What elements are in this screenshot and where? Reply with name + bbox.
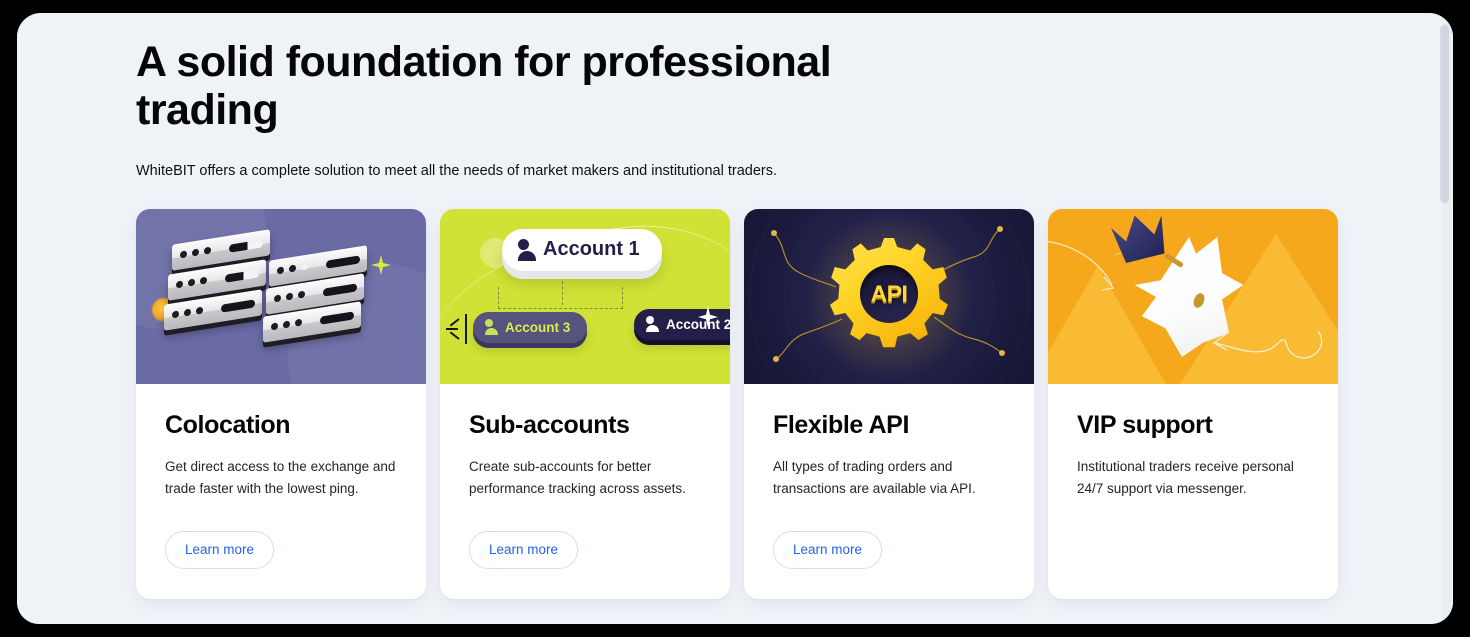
click-burst-icon bbox=[454, 314, 478, 344]
card-description: Institutional traders receive personal 2… bbox=[1077, 456, 1309, 499]
colocation-illustration bbox=[136, 209, 426, 384]
server-slot bbox=[323, 283, 357, 296]
feature-card-flexible-api[interactable]: API Flexible API All types of trading or… bbox=[744, 209, 1034, 599]
card-body: VIP support Institutional traders receiv… bbox=[1048, 384, 1338, 599]
person-icon bbox=[518, 239, 536, 261]
server-led-dots bbox=[172, 307, 203, 319]
person-icon bbox=[646, 316, 659, 332]
gear-api-label: API bbox=[871, 281, 908, 308]
card-description: Get direct access to the exchange and tr… bbox=[165, 456, 397, 499]
server-slot bbox=[320, 311, 354, 324]
account-pill-label: Account 2 bbox=[666, 317, 730, 332]
card-title: VIP support bbox=[1077, 410, 1309, 440]
flexible-api-illustration: API bbox=[744, 209, 1034, 384]
page-title: A solid foundation for professional trad… bbox=[136, 38, 896, 134]
feature-card-grid: Colocation Get direct access to the exch… bbox=[136, 209, 1351, 599]
card-body: Flexible API All types of trading orders… bbox=[744, 384, 1034, 599]
card-title: Colocation bbox=[165, 410, 397, 440]
gear-icon: API bbox=[830, 238, 948, 356]
feature-card-sub-accounts[interactable]: Account 1 Account 3 bbox=[440, 209, 730, 599]
page-content: A solid foundation for professional trad… bbox=[17, 13, 1453, 624]
card-description: Create sub-accounts for better performan… bbox=[469, 456, 701, 499]
person-icon bbox=[485, 319, 498, 335]
account-pill-label: Account 1 bbox=[543, 238, 640, 261]
feature-card-vip-support[interactable]: VIP support Institutional traders receiv… bbox=[1048, 209, 1338, 599]
account-pill-tertiary: Account 3 bbox=[473, 312, 587, 343]
card-description: All types of trading orders and transact… bbox=[773, 456, 1005, 499]
learn-more-button-colocation[interactable]: Learn more bbox=[165, 531, 274, 570]
server-led-dots bbox=[274, 291, 305, 303]
card-body: Colocation Get direct access to the exch… bbox=[136, 384, 426, 599]
browser-viewport: A solid foundation for professional trad… bbox=[17, 13, 1453, 624]
card-body: Sub-accounts Create sub-accounts for bet… bbox=[440, 384, 730, 599]
server-slot bbox=[229, 239, 263, 252]
vertical-scrollbar-thumb[interactable] bbox=[1440, 25, 1449, 203]
connector-line bbox=[498, 287, 623, 309]
server-slot bbox=[326, 255, 360, 268]
server-led-dots bbox=[176, 277, 207, 289]
feature-card-colocation[interactable]: Colocation Get direct access to the exch… bbox=[136, 209, 426, 599]
vertical-scrollbar-track[interactable] bbox=[1442, 13, 1451, 624]
server-slot bbox=[221, 299, 255, 312]
card-title: Sub-accounts bbox=[469, 410, 701, 440]
device-frame: A solid foundation for professional trad… bbox=[0, 0, 1470, 637]
learn-more-button-flexible-api[interactable]: Learn more bbox=[773, 531, 882, 570]
server-led-dots bbox=[180, 247, 211, 259]
vip-support-illustration bbox=[1048, 209, 1338, 384]
card-title: Flexible API bbox=[773, 410, 1005, 440]
server-led-dots bbox=[271, 319, 302, 331]
server-slot bbox=[225, 269, 259, 282]
learn-more-button-sub-accounts[interactable]: Learn more bbox=[469, 531, 578, 570]
page-subtitle: WhiteBIT offers a complete solution to m… bbox=[136, 161, 1351, 181]
account-pill-primary: Account 1 bbox=[502, 229, 662, 271]
server-led-dots bbox=[277, 263, 308, 275]
account-pill-label: Account 3 bbox=[505, 320, 570, 335]
sub-accounts-illustration: Account 1 Account 3 bbox=[440, 209, 730, 384]
account-pill-secondary: Account 2 bbox=[634, 309, 730, 340]
institutional-features-section: A solid foundation for professional trad… bbox=[136, 13, 1351, 599]
